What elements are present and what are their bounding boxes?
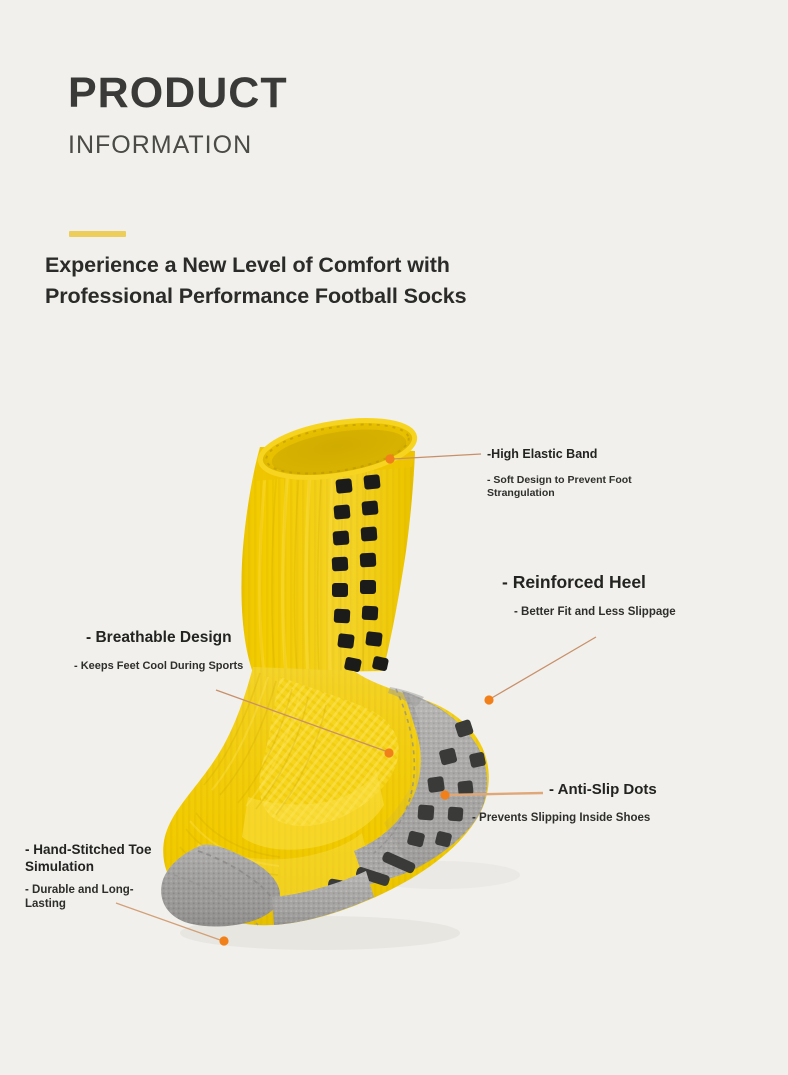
callout-high-elastic-band: -High Elastic Band - Soft Design to Prev… xyxy=(487,447,717,501)
tagline-line-1: Experience a New Level of Comfort with xyxy=(45,250,665,281)
product-information-page: Product Information Experience a New Lev… xyxy=(0,0,788,1075)
callout-reinforced-heel: - Reinforced Heel - Better Fit and Less … xyxy=(502,572,752,620)
callout-hand-stitched-toe: - Hand-Stitched Toe Simulation - Durable… xyxy=(25,841,215,911)
callout-anti-slip-dots: - Anti-Slip Dots - Prevents Slipping Ins… xyxy=(549,781,788,826)
callout-title: - Anti-Slip Dots xyxy=(549,781,788,798)
callout-subtitle: - Better Fit and Less Slippage xyxy=(514,605,752,620)
page-subtitle: Information xyxy=(68,123,728,159)
callout-title: -High Elastic Band xyxy=(487,447,717,461)
callout-title: - Breathable Design xyxy=(86,629,336,647)
callout-subtitle: - Prevents Slipping Inside Shoes xyxy=(472,811,788,826)
tagline-line-2: Professional Performance Football Socks xyxy=(45,281,665,312)
callout-subtitle: - Durable and Long-Lasting xyxy=(25,883,145,911)
tagline: Experience a New Level of Comfort with P… xyxy=(45,250,665,311)
callout-breathable-design: - Breathable Design - Keeps Feet Cool Du… xyxy=(86,629,336,673)
callout-title: - Hand-Stitched Toe Simulation xyxy=(25,841,185,876)
header-block: Product Information xyxy=(68,58,728,159)
accent-bar xyxy=(69,231,126,237)
callout-subtitle: - Soft Design to Prevent Foot Strangulat… xyxy=(487,474,683,501)
page-title: Product xyxy=(68,58,728,117)
callout-title: - Reinforced Heel xyxy=(502,572,752,593)
callout-subtitle: - Keeps Feet Cool During Sports xyxy=(74,659,336,673)
